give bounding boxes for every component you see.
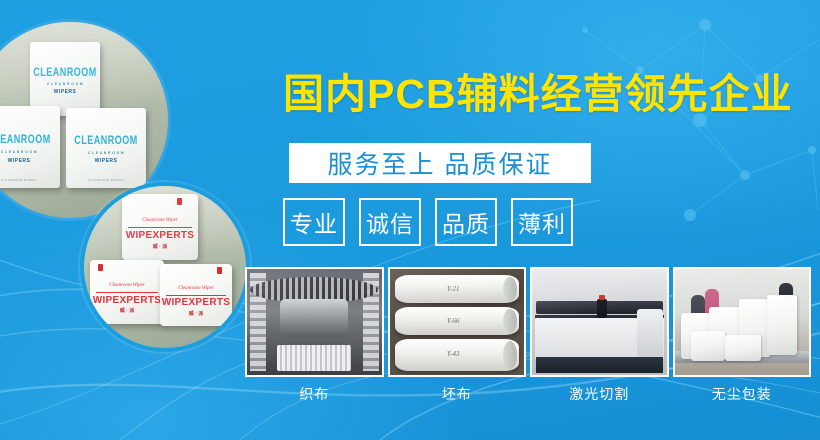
slogan-text: 服务至上 品质保证 xyxy=(328,145,553,181)
pack-wipes-label: WIPERS xyxy=(30,89,100,95)
pack-brand-label: CLEANROOM xyxy=(0,132,60,146)
pack-script-label: Cleanroom Wiper xyxy=(160,286,232,291)
page-title: 国内PCB辅料经营领先企业 xyxy=(283,74,793,115)
keyword-label: 诚信 xyxy=(366,205,414,239)
pack-chip-label: 威 · 派 xyxy=(189,310,203,317)
product-photo-wipexperts: Cleanroom Wiper WIPEXPERTS 威 · 派 Cleanro… xyxy=(84,186,246,348)
process-item-greige-fabric: Y-21 Y-66 Y-43 坯布 xyxy=(388,267,527,404)
pack-brand-label: WIPEXPERTS xyxy=(90,295,164,306)
knitting-machine-photo xyxy=(245,267,384,377)
process-item-cleanroom-packing: 无尘包装 xyxy=(673,267,812,404)
pack-footer-label: CLEANROOM WIPERS xyxy=(0,179,60,182)
process-item-weaving: 织布 xyxy=(245,267,384,404)
pack-brand-label: CLEANROOM xyxy=(66,133,146,147)
fabric-rolls-photo: Y-21 Y-66 Y-43 xyxy=(388,267,527,377)
keyword-box-1: 专业 xyxy=(283,198,345,246)
process-caption: 无尘包装 xyxy=(673,384,812,404)
pack-sub-label: C L E A N R O O M xyxy=(30,82,100,86)
process-caption: 激光切割 xyxy=(530,384,669,404)
slogan-banner: 服务至上 品质保证 xyxy=(289,143,591,183)
pack-brand-label: WIPEXPERTS xyxy=(160,297,232,308)
process-photo-strip: 织布 Y-21 Y-66 Y-43 坯布 xyxy=(245,267,811,404)
keyword-box-3: 品质 xyxy=(435,198,497,246)
pack-wipes-label: WIPERS xyxy=(66,158,146,164)
pack-chip-label: 威 · 派 xyxy=(153,243,167,250)
keyword-list: 专业 诚信 品质 薄利 xyxy=(283,198,573,246)
keyword-box-4: 薄利 xyxy=(511,198,573,246)
pack-sub-label: C L E A N R O O M xyxy=(0,150,60,154)
keyword-label: 专业 xyxy=(290,205,338,239)
keyword-box-2: 诚信 xyxy=(359,198,421,246)
pack-chip-label: 威 · 派 xyxy=(120,307,134,314)
process-caption: 坯布 xyxy=(388,384,527,404)
pack-wipes-label: WIPERS xyxy=(0,158,60,164)
pack-sub-label: C L E A N R O O M xyxy=(66,151,146,155)
process-item-laser-cutting: 激光切割 xyxy=(530,267,669,404)
process-caption: 织布 xyxy=(245,384,384,404)
laser-cutter-photo xyxy=(530,267,669,377)
pack-script-label: Cleanroom Wiper xyxy=(90,283,164,288)
promo-banner: CLEANROOM C L E A N R O O M WIPERS CLEAN… xyxy=(0,0,820,440)
pack-footer-label: CLEANROOM WIPERS xyxy=(66,179,146,182)
pack-script-label: Cleanroom Wiper xyxy=(122,218,198,223)
pack-brand-label: WIPEXPERTS xyxy=(122,230,198,241)
pack-brand-label: CLEANROOM xyxy=(30,65,100,79)
keyword-label: 薄利 xyxy=(518,205,566,239)
keyword-label: 品质 xyxy=(442,205,490,239)
packing-area-photo xyxy=(673,267,812,377)
